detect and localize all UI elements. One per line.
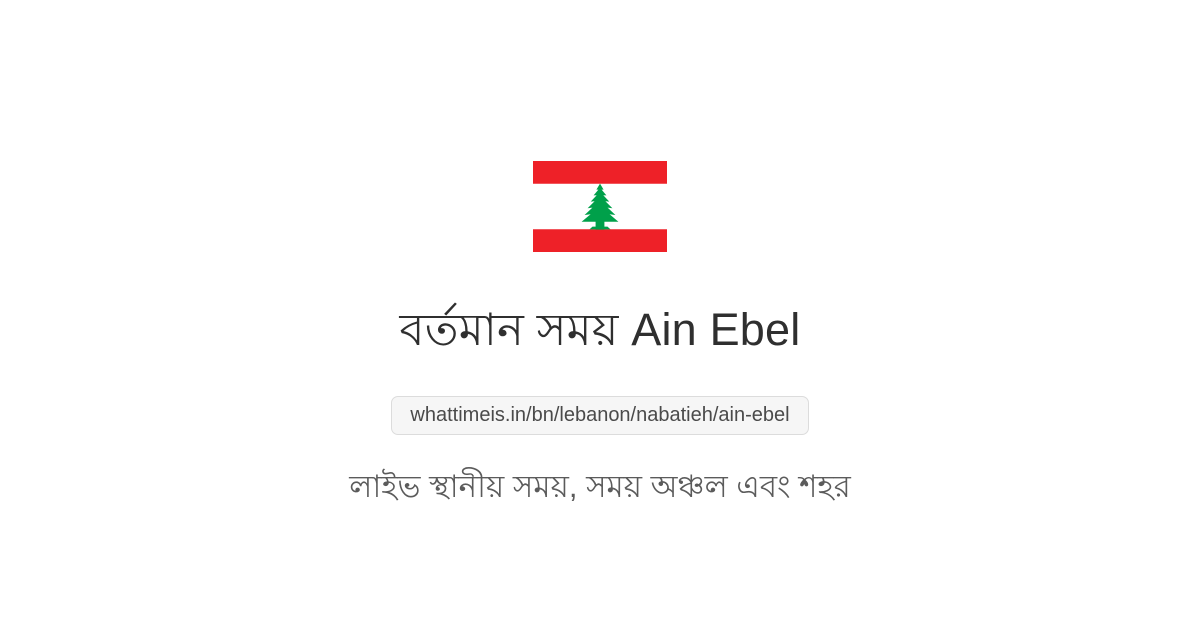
page-subtitle: লাইভ স্থানীয় সময়, সময় অঞ্চল এবং শহর (0, 464, 1200, 510)
flag-bottom-stripe (533, 229, 667, 252)
flag-graphic (533, 161, 667, 252)
page-title: বর্তমান সময় Ain Ebel (0, 299, 1200, 361)
url-pill[interactable]: whattimeis.in/bn/lebanon/nabatieh/ain-eb… (391, 396, 808, 435)
share-card: বর্তমান সময় Ain Ebel whattimeis.in/bn/l… (0, 0, 1200, 630)
lebanon-flag (533, 161, 667, 252)
url-row: whattimeis.in/bn/lebanon/nabatieh/ain-eb… (0, 396, 1200, 435)
flag-top-stripe (533, 161, 667, 184)
